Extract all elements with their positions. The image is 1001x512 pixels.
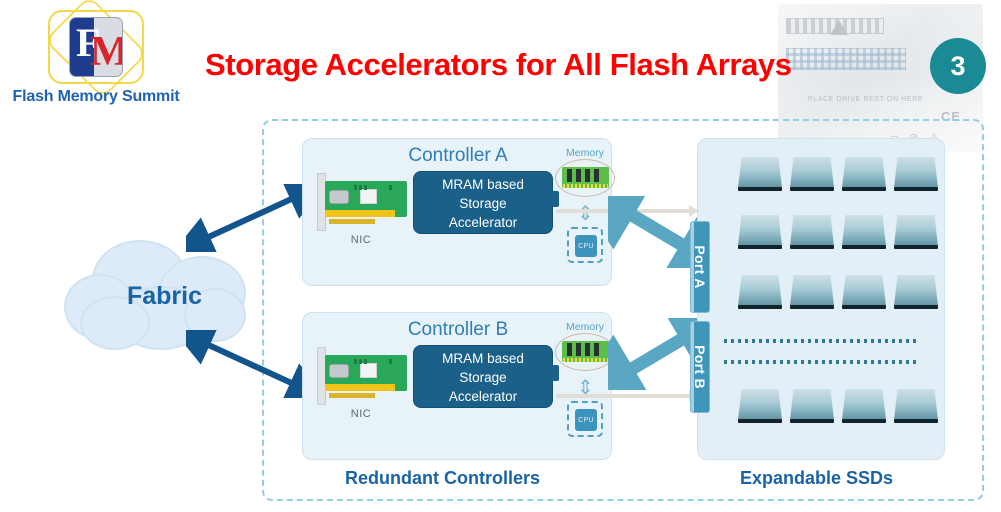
caption-redundant-controllers: Redundant Controllers [345, 468, 540, 489]
fms-logo: F M Flash Memory Summit [8, 8, 184, 106]
ssd-drive[interactable] [790, 215, 834, 251]
controller-b-memory-label: Memory [555, 321, 615, 333]
controller-b-datapath-arrow [556, 394, 690, 398]
ssd-ellipsis-row [724, 360, 920, 364]
fms-logo-text: Flash Memory Summit [8, 88, 184, 106]
ssd-drive[interactable] [894, 215, 938, 251]
accelerator-line-3: Accelerator [414, 213, 552, 232]
ssd-drive[interactable] [738, 215, 782, 251]
controller-a-accelerator[interactable]: MRAM based Storage Accelerator [413, 171, 553, 234]
memory-dimm-icon [562, 167, 609, 188]
accelerator-line-2: Storage [414, 368, 552, 387]
ssd-drive[interactable] [738, 389, 782, 425]
warning-triangle-icon [830, 20, 848, 35]
ssd-ellipsis-row [724, 339, 920, 343]
controller-b-card[interactable]: Controller B NIC MRAM based Storage Acce… [302, 312, 612, 460]
fabric-to-controller-a-arrow [186, 184, 314, 252]
page-title: Storage Accelerators for All Flash Array… [205, 47, 905, 83]
accelerator-line-1: MRAM based [414, 349, 552, 368]
controller-b-cpu-icon: CPU [567, 401, 603, 437]
controller-a-mem-cpu-link-icon: ⇕ [577, 201, 592, 227]
accelerator-line-1: MRAM based [414, 175, 552, 194]
controller-b-nic-icon [317, 351, 409, 403]
port-a-connector[interactable]: Port A [690, 221, 710, 313]
accelerator-line-3: Accelerator [414, 387, 552, 406]
port-b-connector[interactable]: Port B [690, 321, 710, 413]
ssd-drive[interactable] [790, 389, 834, 425]
ssd-drive[interactable] [842, 157, 886, 193]
controller-a-nic-icon [317, 177, 409, 229]
controller-a-cpu-label: CPU [575, 235, 597, 257]
accelerator-line-2: Storage [414, 194, 552, 213]
controller-b-cpu-label: CPU [575, 409, 597, 431]
controller-b-accelerator[interactable]: MRAM based Storage Accelerator [413, 345, 553, 408]
controller-a-memory: Memory [555, 147, 617, 199]
fms-logo-mark: F M [48, 10, 144, 84]
ssd-drive[interactable] [790, 157, 834, 193]
controller-a-cpu-icon: CPU [567, 227, 603, 263]
bg-photo-caption: PLACE DRIVE REST ON HERE [808, 96, 923, 103]
ssd-drive[interactable] [894, 389, 938, 425]
controller-b-nic-label: NIC [313, 408, 409, 420]
slide-canvas: · · · · · · PLACE DRIVE REST ON HERE CE … [0, 0, 1001, 512]
ssd-drive[interactable] [842, 215, 886, 251]
logo-letter-m: M [90, 31, 123, 73]
port-b-label: Port B [692, 345, 708, 389]
slide-number-badge: 3 [930, 38, 986, 94]
logo-badge-shape: F M [69, 17, 123, 77]
caption-expandable-ssds: Expandable SSDs [740, 468, 893, 489]
ssd-enclosure[interactable]: Port A Port B [697, 138, 945, 460]
fabric-to-controller-b-arrow [186, 330, 314, 398]
ssd-drive[interactable] [738, 275, 782, 311]
controller-a-memory-label: Memory [555, 147, 615, 159]
ssd-drive[interactable] [738, 157, 782, 193]
memory-dimm-icon [562, 341, 609, 362]
port-a-label: Port A [692, 245, 708, 288]
controller-a-nic-label: NIC [313, 234, 409, 246]
ssd-drive[interactable] [842, 389, 886, 425]
ssd-drive[interactable] [842, 275, 886, 311]
ssd-drive[interactable] [790, 275, 834, 311]
fabric-label: Fabric [62, 282, 267, 311]
ssd-drive[interactable] [894, 275, 938, 311]
bg-photo-minor-text: · · · · · · [788, 36, 815, 42]
ssd-drive[interactable] [894, 157, 938, 193]
